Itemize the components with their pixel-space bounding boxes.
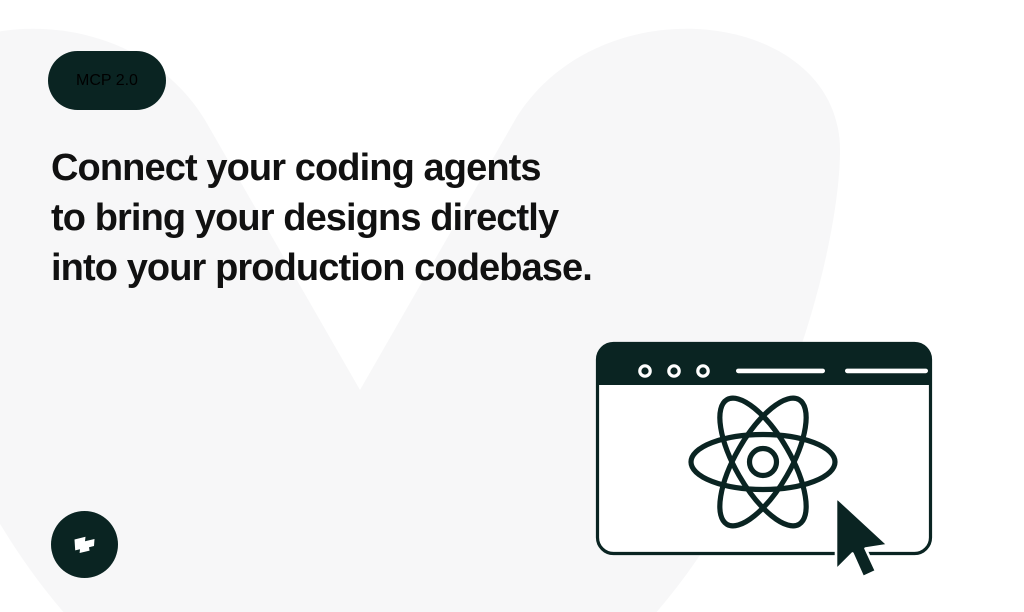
mcp-version-badge-label: MCP 2.0: [76, 72, 138, 90]
window-titlebar: [596, 342, 932, 385]
brand-logo-mark-icon: [65, 525, 105, 565]
headline-line-3: into your production codebase.: [51, 243, 592, 293]
window-secondary-bar: [845, 369, 928, 374]
headline-line-1: Connect your coding agents: [51, 143, 592, 193]
window-address-bar: [736, 369, 825, 374]
promo-card: MCP 2.0 Connect your coding agents to br…: [0, 0, 1024, 612]
brand-logo-badge: [51, 511, 118, 578]
browser-window-illustration: [596, 342, 932, 557]
headline: Connect your coding agents to bring your…: [51, 143, 592, 293]
headline-line-2: to bring your designs directly: [51, 193, 592, 243]
mcp-version-badge: MCP 2.0: [48, 51, 166, 110]
